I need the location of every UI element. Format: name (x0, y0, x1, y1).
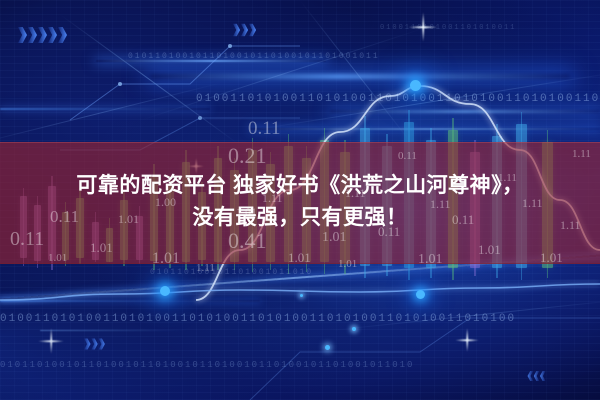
decorative-number: 1.11 (196, 262, 215, 274)
headline-block: 可靠的配资平台 独家好书《洪荒之山河尊神》， 没有最强，只有更强！ (0, 142, 600, 262)
banner-image: 0100110101001101010011010100110101001101… (0, 0, 600, 400)
headline-line-2: 没有最强，只有更强！ (193, 206, 408, 230)
decorative-number: 0.11 (248, 118, 281, 140)
headline-line-1: 可靠的配资平台 独家好书《洪荒之山河尊神》， (76, 174, 523, 198)
